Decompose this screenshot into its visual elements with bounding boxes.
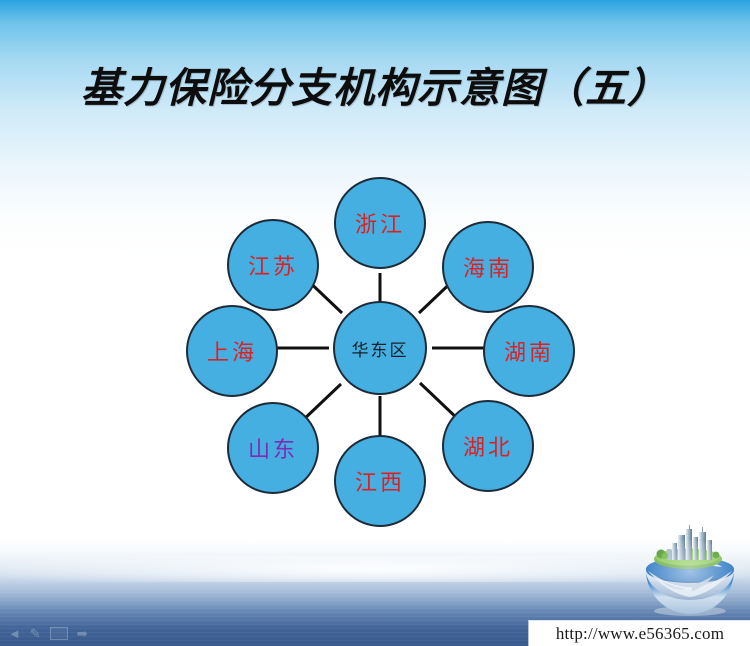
presentation-slide: 基力保险分支机构示意图（五） 浙江 海南 湖南 湖北 (0, 0, 750, 646)
node-label-hunan: 湖南 (504, 335, 554, 367)
slide-title: 基力保险分支机构示意图（五） (0, 62, 750, 114)
node-jiangsu[interactable]: 江苏 (227, 219, 319, 311)
node-label-shanghai: 上海 (207, 335, 257, 367)
node-jiangxi[interactable]: 江西 (334, 435, 426, 527)
nav-forward-icon[interactable]: ➡ (77, 627, 88, 640)
watermark-url-box: http://www.e56365.com (528, 620, 750, 646)
node-label-jiangsu: 江苏 (248, 249, 298, 281)
node-shanghai[interactable]: 上海 (186, 305, 278, 397)
node-label-huadong-region: 华东区 (352, 336, 409, 361)
node-label-hubei: 湖北 (463, 430, 513, 462)
node-label-jiangxi: 江西 (355, 465, 405, 497)
nav-pen-icon[interactable]: ✎ (30, 627, 41, 640)
globe-gloss (646, 540, 734, 600)
globe-city-logo (638, 523, 742, 619)
node-center-huadong-region[interactable]: 华东区 (333, 301, 427, 395)
node-hainan[interactable]: 海南 (442, 221, 534, 313)
node-zhejiang[interactable]: 浙江 (334, 177, 426, 269)
slideshow-nav-controls[interactable]: ◄ ✎ ➡ (8, 624, 112, 642)
watermark-url-text: http://www.e56365.com (556, 624, 724, 644)
node-shandong[interactable]: 山东 (227, 402, 319, 494)
node-label-shandong: 山东 (248, 432, 298, 464)
node-label-hainan: 海南 (463, 251, 513, 283)
nav-slide-icon[interactable] (50, 627, 68, 640)
node-label-zhejiang: 浙江 (355, 207, 405, 239)
org-structure-diagram: 浙江 海南 湖南 湖北 江西 山东 上海 江苏 华东区 (170, 165, 590, 530)
node-hunan[interactable]: 湖南 (483, 305, 575, 397)
nav-back-icon[interactable]: ◄ (8, 627, 21, 640)
node-hubei[interactable]: 湖北 (442, 400, 534, 492)
